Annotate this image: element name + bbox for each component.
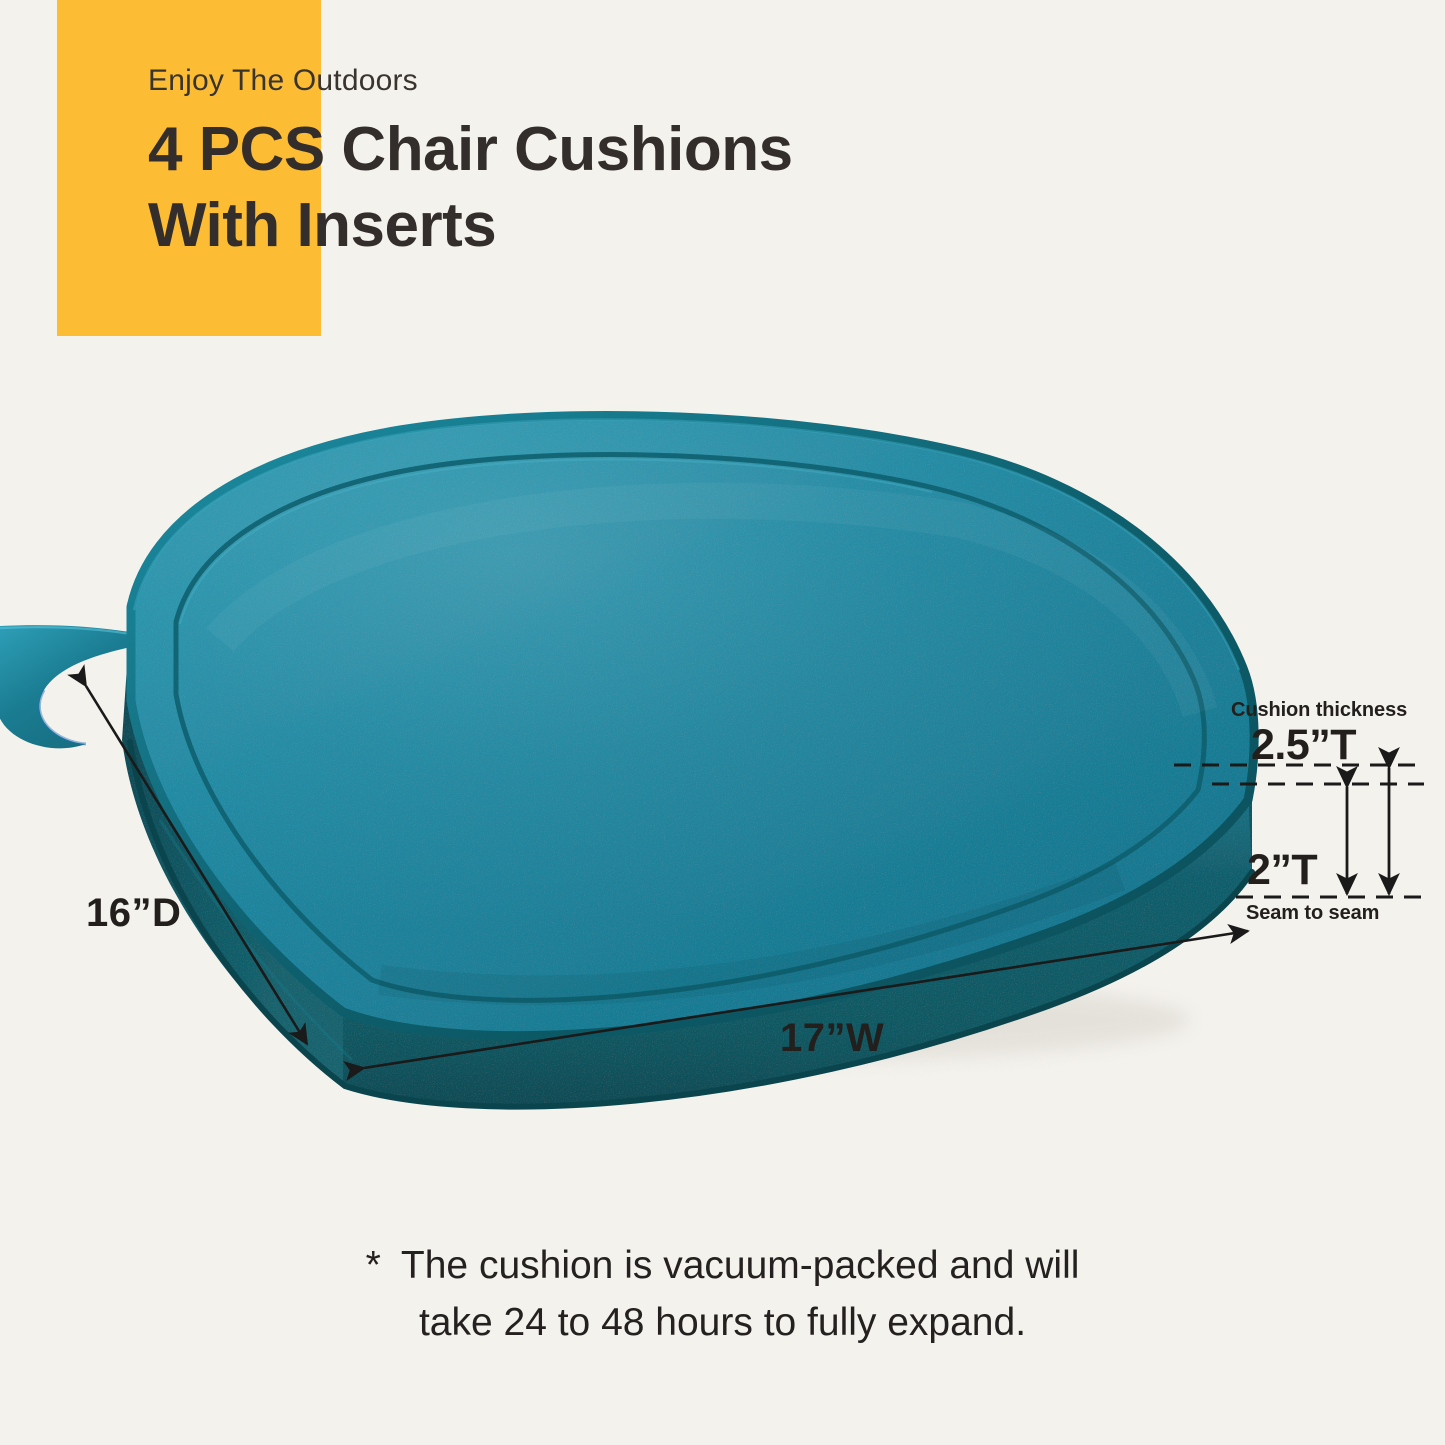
- footnote: * The cushion is vacuum-packed and will …: [0, 1238, 1445, 1351]
- cushion-shadow: [330, 978, 1190, 1062]
- seam-to-seam-caption: Seam to seam: [1246, 903, 1379, 923]
- footnote-line-2: take 24 to 48 hours to fully expand.: [0, 1295, 1445, 1352]
- product-infographic: Enjoy The Outdoors 4 PCS Chair Cushions …: [0, 0, 1445, 1445]
- cushion-tie-strap: [0, 625, 168, 748]
- cushion-piping-highlight: [134, 420, 1239, 670]
- header-text-group: Enjoy The Outdoors 4 PCS Chair Cushions …: [148, 66, 1148, 263]
- cushion-inner-seam-highlight: [180, 459, 932, 624]
- cushion-outer-piping: [131, 416, 1254, 1036]
- cushion-bottom-edge: [130, 742, 1252, 1107]
- depth-dimension-arrow: [86, 686, 307, 1044]
- cushion-thickness-caption: Cushion thickness: [1231, 700, 1407, 720]
- cushion-thickness-value: 2.5”T: [1251, 724, 1356, 767]
- page-title: 4 PCS Chair Cushions With Inserts: [148, 112, 1148, 263]
- headline-line-2: With Inserts: [148, 188, 1148, 264]
- asterisk-marker: *: [366, 1244, 391, 1287]
- headline-line-1: 4 PCS Chair Cushions: [148, 112, 1148, 188]
- footnote-line-1-text: The cushion is vacuum-packed and will: [401, 1244, 1080, 1287]
- seam-to-seam-value: 2”T: [1247, 849, 1317, 892]
- eyebrow-text: Enjoy The Outdoors: [148, 66, 1148, 96]
- cushion-side-walls: [122, 607, 1252, 1107]
- cushion-inner-seam: [176, 455, 1204, 1001]
- cushion-loft-highlight: [220, 501, 1200, 712]
- width-dimension-label: 17”W: [780, 1018, 884, 1058]
- cushion-top-face: [131, 416, 1254, 1036]
- footnote-line-1: * The cushion is vacuum-packed and will: [0, 1238, 1445, 1295]
- cushion-front-shading: [380, 876, 1120, 990]
- depth-dimension-label: 16”D: [86, 893, 181, 933]
- cushion-left-wall-highlight: [160, 820, 352, 1060]
